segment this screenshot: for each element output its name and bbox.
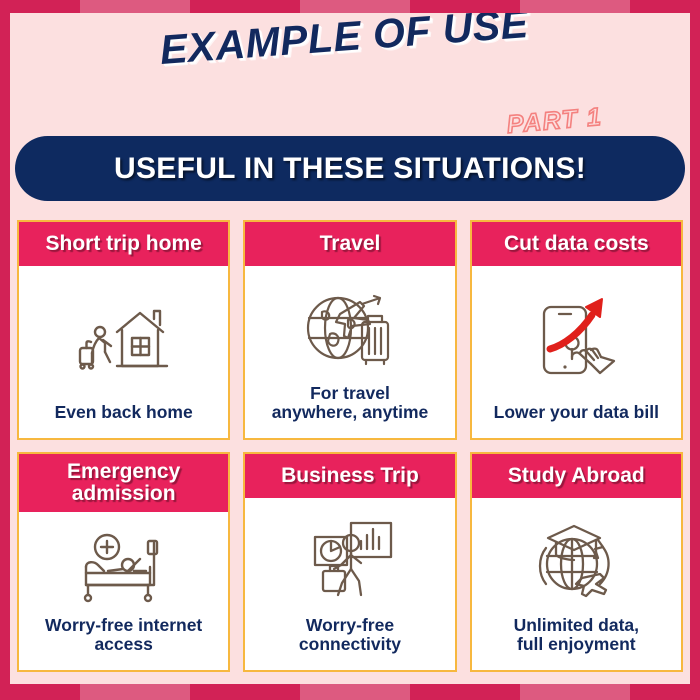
globe-graduation-plane-icon: [478, 502, 675, 616]
businessman-chart-icon: [251, 502, 448, 616]
phone-tap-arrow-icon: [478, 270, 675, 403]
card-caption: For travelanywhere, anytime: [272, 384, 429, 429]
use-case-card-grid: Short trip home Even back homeTravel: [17, 220, 683, 672]
globe-plane-suitcase-icon: [251, 270, 448, 384]
card-caption: Worry-freeconnectivity: [299, 616, 401, 661]
use-case-card[interactable]: Business Trip Worry-freeconnectivity: [243, 452, 456, 672]
top-stripe-segment: [410, 0, 520, 13]
card-body: Worry-freeconnectivity: [245, 498, 454, 670]
card-body: Worry-free internetaccess: [19, 512, 228, 670]
bottom-stripe-segment: [410, 684, 520, 700]
top-stripe-segment: [300, 0, 410, 13]
bottom-stripe-segment: [520, 684, 630, 700]
banner-title: USEFUL IN THESE SITUATIONS!: [114, 152, 586, 186]
card-title: Study Abroad: [508, 465, 645, 487]
poster-root: EXAMPLE OF USE PART 1 USEFUL IN THESE SI…: [0, 0, 700, 700]
hospital-bed-icon: [25, 516, 222, 616]
top-stripe-segment: [630, 0, 700, 13]
card-header: Emergencyadmission: [19, 454, 228, 512]
bottom-stripe-band: [0, 684, 700, 700]
part-badge: PART 1: [506, 103, 604, 140]
card-caption: Unlimited data,full enjoyment: [514, 616, 639, 661]
card-header: Study Abroad: [472, 454, 681, 498]
bottom-stripe-segment: [300, 684, 410, 700]
card-body: For travelanywhere, anytime: [245, 266, 454, 438]
card-caption: Even back home: [55, 403, 193, 428]
page-title: EXAMPLE OF USE: [158, 13, 530, 74]
use-case-card[interactable]: Travel For travelanywhere, anytime: [243, 220, 456, 440]
headline-area: EXAMPLE OF USE PART 1: [10, 23, 690, 141]
card-title: Emergencyadmission: [67, 461, 180, 506]
top-stripe-segment: [80, 0, 190, 13]
traveler-house-icon: [25, 270, 222, 403]
use-case-card[interactable]: Short trip home Even back home: [17, 220, 230, 440]
card-caption: Lower your data bill: [494, 403, 659, 428]
use-case-card[interactable]: Emergencyadmission Worry-free internetac…: [17, 452, 230, 672]
bottom-stripe-segment: [630, 684, 700, 700]
top-stripe-band: [0, 0, 700, 13]
card-body: Unlimited data,full enjoyment: [472, 498, 681, 670]
card-header: Business Trip: [245, 454, 454, 498]
card-body: Lower your data bill: [472, 266, 681, 438]
use-case-card[interactable]: Cut data costs Lower your data bill: [470, 220, 683, 440]
bottom-stripe-segment: [190, 684, 300, 700]
card-caption: Worry-free internetaccess: [45, 616, 202, 661]
bottom-stripe-segment: [0, 684, 80, 700]
situations-banner: USEFUL IN THESE SITUATIONS!: [15, 136, 685, 201]
top-stripe-segment: [520, 0, 630, 13]
poster-canvas: EXAMPLE OF USE PART 1 USEFUL IN THESE SI…: [10, 13, 690, 684]
card-title: Cut data costs: [504, 233, 649, 255]
top-stripe-segment: [0, 0, 80, 13]
use-case-card[interactable]: Study Abroad Unlimited data,full enjoyme…: [470, 452, 683, 672]
card-title: Travel: [320, 233, 381, 255]
bottom-stripe-segment: [80, 684, 190, 700]
card-header: Short trip home: [19, 222, 228, 266]
card-title: Business Trip: [281, 465, 419, 487]
top-stripe-segment: [190, 0, 300, 13]
card-header: Travel: [245, 222, 454, 266]
card-body: Even back home: [19, 266, 228, 438]
card-title: Short trip home: [45, 233, 201, 255]
card-header: Cut data costs: [472, 222, 681, 266]
